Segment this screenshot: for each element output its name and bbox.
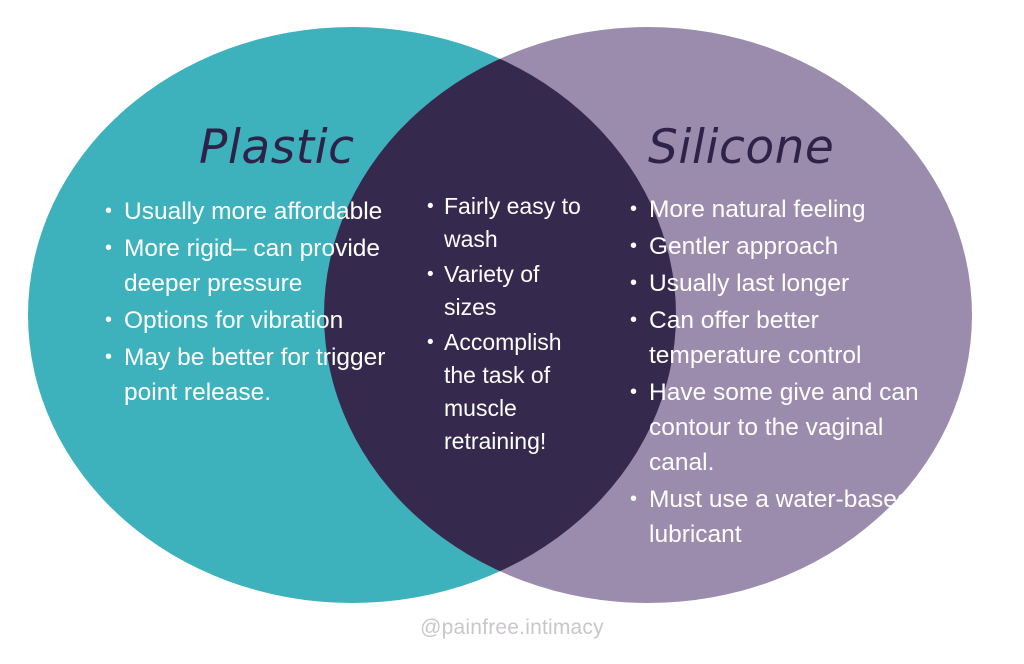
list-item: Variety of sizes <box>425 258 585 324</box>
overlap-list: Fairly easy to wash Variety of sizes Acc… <box>425 190 585 460</box>
right-circle-list: More natural feeling Gentler approach Us… <box>628 192 928 554</box>
list-item: Accomplish the task of muscle retraining… <box>425 326 585 458</box>
list-item: Options for vibration <box>103 303 403 338</box>
venn-diagram-canvas: Plastic Silicone Usually more affordable… <box>0 0 1024 664</box>
watermark-handle: @painfree.intimacy <box>0 616 1024 640</box>
list-item: Gentler approach <box>628 229 928 264</box>
list-item: More natural feeling <box>628 192 928 227</box>
list-item: Have some give and can contour to the va… <box>628 375 928 480</box>
list-item: More rigid– can provide deeper pressure <box>103 231 403 301</box>
list-item: Fairly easy to wash <box>425 190 585 256</box>
list-item: Must use a water-based lubricant <box>628 482 928 552</box>
right-circle-title: Silicone <box>648 120 834 175</box>
left-circle-title: Plastic <box>199 120 355 175</box>
list-item: Usually last longer <box>628 266 928 301</box>
list-item: May be better for trigger point release. <box>103 340 403 410</box>
left-circle-list: Usually more affordable More rigid– can … <box>103 194 403 412</box>
list-item: Usually more affordable <box>103 194 403 229</box>
list-item: Can offer better temperature control <box>628 303 928 373</box>
